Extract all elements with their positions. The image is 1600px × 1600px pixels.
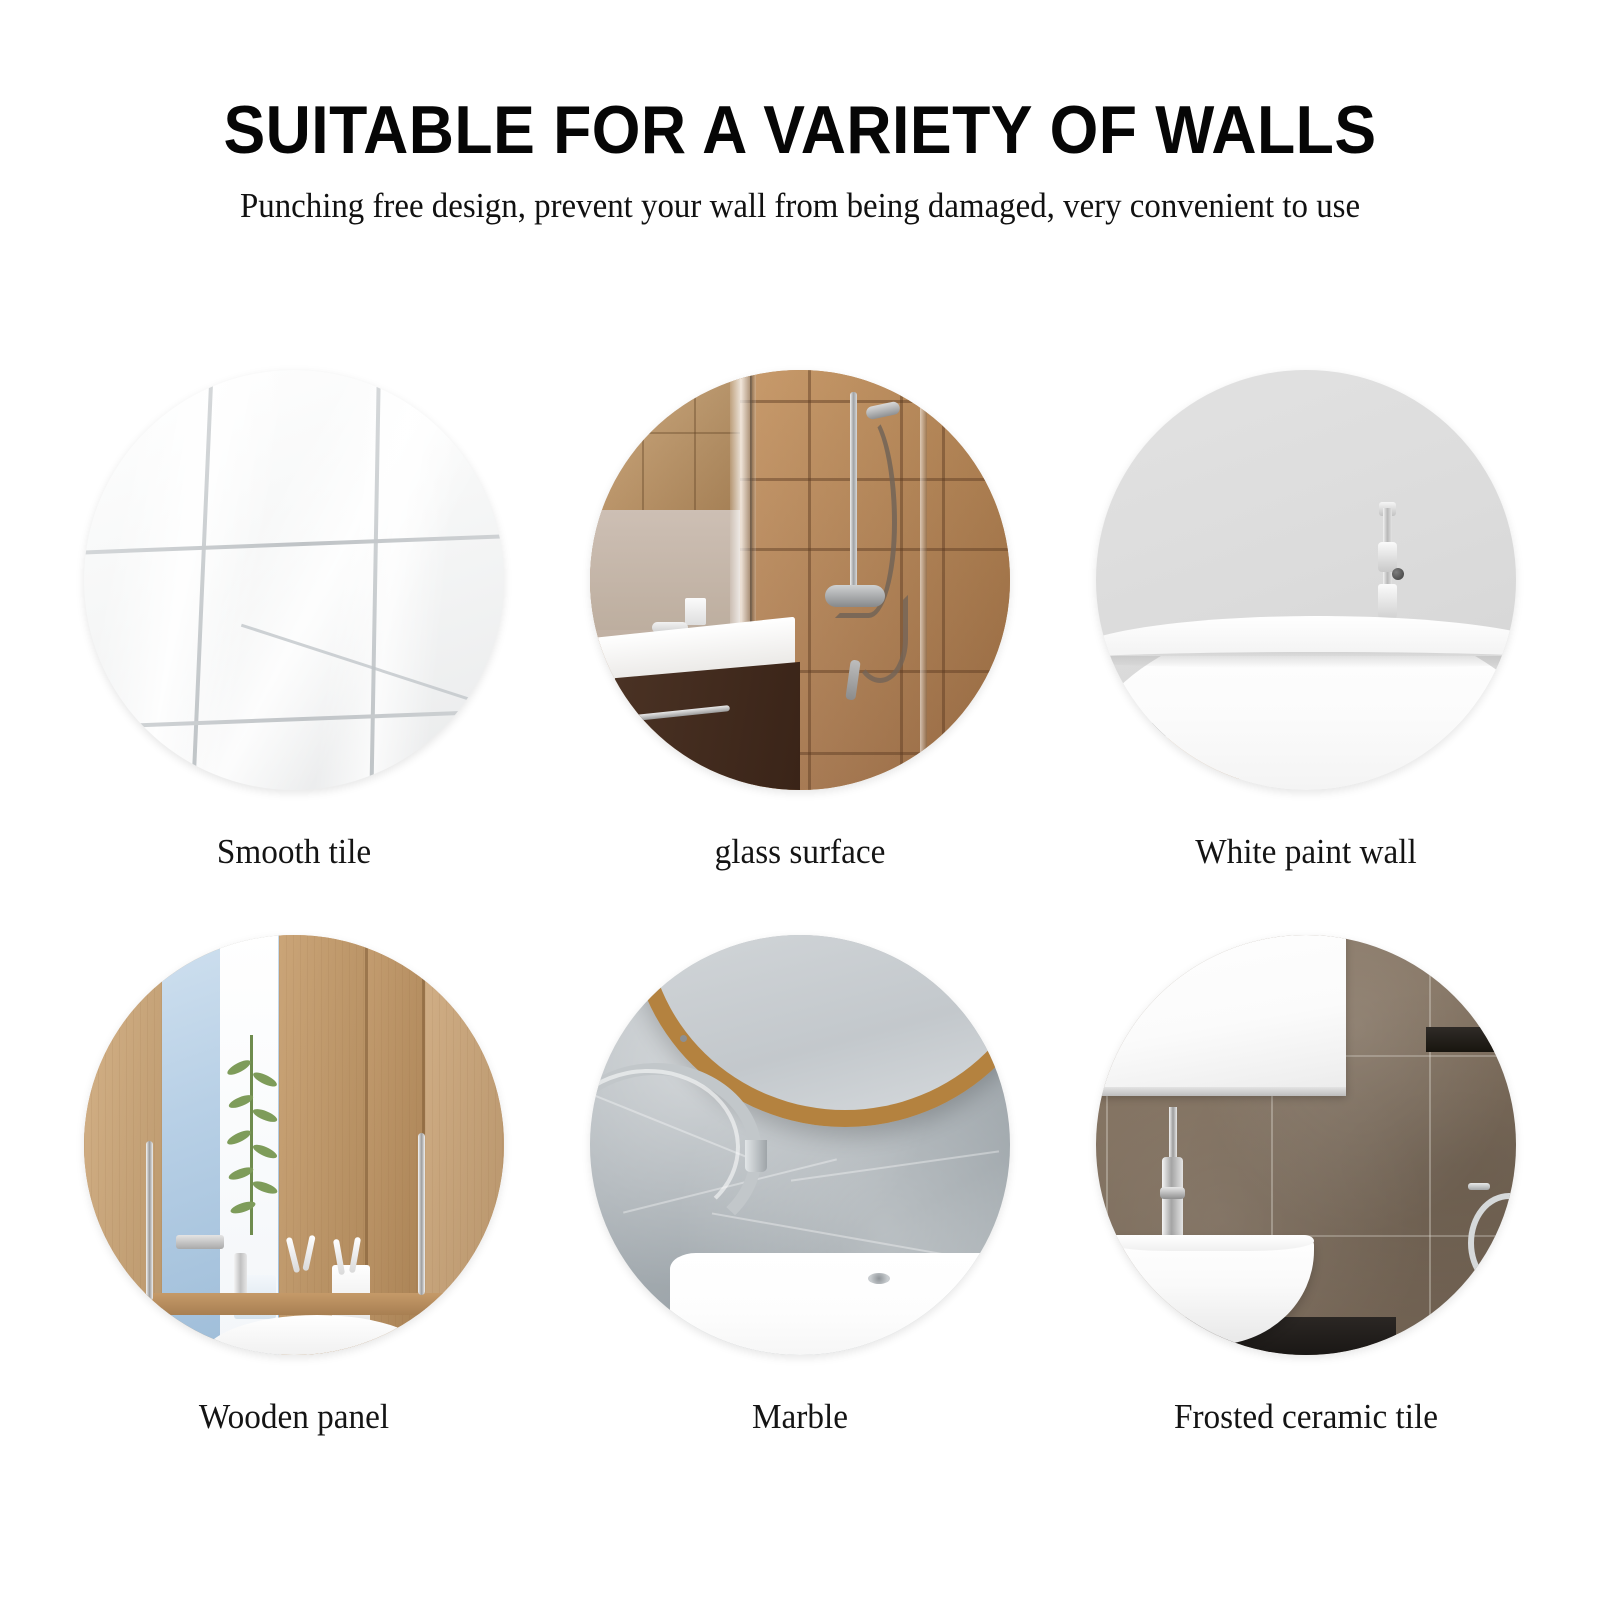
scene-glass-surface — [590, 370, 1010, 790]
photo-glass-surface — [590, 370, 1010, 790]
tile-gloss-highlight-2 — [307, 370, 471, 790]
page-title: SUITABLE FOR A VARIETY OF WALLS — [64, 0, 1536, 165]
tile-seam-vertical — [1429, 935, 1431, 1355]
gallery-cell-marble[interactable]: Marble — [550, 895, 1050, 1437]
floor-faucet-body — [1378, 542, 1397, 572]
photo-marble — [590, 935, 1010, 1355]
vanity-cabinet — [615, 662, 800, 790]
potted-plant — [224, 1035, 278, 1235]
wood-panel — [367, 935, 425, 1355]
vessel-faucet-body — [1162, 1157, 1183, 1247]
floor-faucet-knob — [1392, 568, 1404, 580]
photo-frosted-ceramic-tile — [1096, 935, 1516, 1355]
photo-smooth-tile — [84, 370, 504, 790]
scene-frosted-ceramic-tile — [1096, 935, 1516, 1355]
shower-mixer-valve — [825, 585, 885, 607]
scene-marble — [590, 935, 1010, 1355]
gallery-row: Wooden panel Marble — [0, 895, 1600, 1460]
vessel-faucet-knob — [1160, 1187, 1185, 1199]
wall-surface-gallery: Smooth tile — [0, 330, 1600, 1460]
wall-mirror — [590, 510, 730, 630]
photo-white-paint-wall — [1096, 370, 1516, 790]
basin-drain — [868, 1273, 890, 1284]
towel-ring-post — [1468, 1183, 1490, 1190]
basin-faucet-spout — [176, 1235, 224, 1249]
floor-faucet-base — [1378, 584, 1397, 618]
gallery-cell-smooth-tile[interactable]: Smooth tile — [44, 330, 544, 872]
header: SUITABLE FOR A VARIETY OF WALLS Punching… — [0, 0, 1600, 226]
scene-white-paint-wall — [1096, 370, 1516, 790]
shower-hose-lower — [852, 595, 908, 683]
mirror-bottom-edge — [1096, 1087, 1346, 1096]
tile-seam-horizontal — [740, 400, 1010, 403]
mirror-mount-screw — [680, 1035, 687, 1042]
vanity-counter — [139, 1293, 469, 1315]
page-subtitle: Punching free design, prevent your wall … — [48, 165, 1552, 226]
scene-smooth-tile — [84, 370, 504, 790]
tile-seam-vertical — [942, 370, 945, 790]
bathtub-inner-shadow — [1096, 652, 1516, 668]
gallery-cell-white-paint-wall[interactable]: White paint wall — [1056, 330, 1556, 872]
wall-mirror — [1096, 935, 1346, 1095]
gallery-cell-glass-surface[interactable]: glass surface — [550, 330, 1050, 872]
upper-cabinet-tiles — [590, 370, 752, 510]
cabinet-handle — [418, 1133, 425, 1295]
caption-white-paint-wall: White paint wall — [1069, 832, 1544, 872]
vessel-basin-rim — [1104, 1235, 1314, 1251]
photo-wooden-panel — [84, 935, 504, 1355]
gallery-row: Smooth tile — [0, 330, 1600, 895]
bathtub-rim — [1096, 616, 1516, 656]
scene-wooden-panel — [84, 935, 504, 1355]
gallery-cell-wooden-panel[interactable]: Wooden panel — [44, 895, 544, 1437]
wall-faucet-spout — [745, 1140, 767, 1172]
caption-frosted-ceramic-tile: Frosted ceramic tile — [1069, 1397, 1544, 1437]
cabinet-handle — [146, 1141, 153, 1301]
dark-shelf — [1426, 1027, 1516, 1052]
caption-wooden-panel: Wooden panel — [57, 1397, 532, 1437]
caption-marble: Marble — [563, 1397, 1038, 1437]
caption-glass-surface: glass surface — [563, 832, 1038, 872]
cup — [685, 598, 706, 625]
gallery-cell-frosted-ceramic-tile[interactable]: Frosted ceramic tile — [1056, 895, 1556, 1437]
wood-panel — [425, 935, 504, 1355]
caption-smooth-tile: Smooth tile — [57, 832, 532, 872]
tile-seam-vertical — [900, 370, 903, 790]
washbasin — [670, 1253, 1010, 1355]
glass-panel-frame — [920, 370, 927, 790]
tile-seam-vertical — [808, 370, 811, 790]
